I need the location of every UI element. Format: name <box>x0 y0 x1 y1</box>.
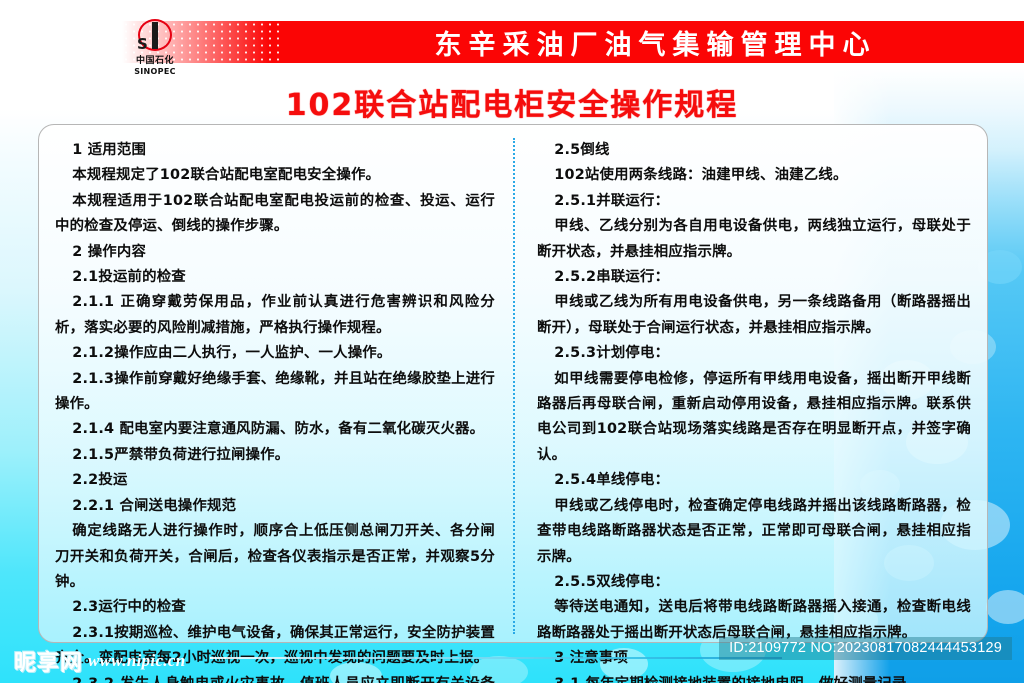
paragraph-sec-2-5-5: 2.5.5双线停电： <box>537 570 971 595</box>
paragraph-p-1-1: 本规程规定了102联合站配电室配电安全操作。 <box>55 163 495 188</box>
paragraph-sec-2-5-3: 2.5.3计划停电： <box>537 341 971 366</box>
paragraph-sec-2: 2 操作内容 <box>55 240 495 265</box>
paragraph-sec-2-5: 2.5倒线 <box>537 138 971 163</box>
right-text-column: 2.5倒线102站使用两条线路：油建甲线、油建乙线。2.5.1并联运行：甲线、乙… <box>513 138 971 634</box>
paragraph-p-1-2: 本规程适用于102联合站配电室配电投运前的检查、投运、运行中的检查及停运、倒线的… <box>55 189 495 240</box>
watermark-brand-cn: 昵享网 <box>14 645 83 677</box>
paragraph-sec-2-2: 2.2投运 <box>55 468 495 493</box>
left-text-column: 1 适用范围本规程规定了102联合站配电室配电安全操作。本规程适用于102联合站… <box>55 138 513 634</box>
logo-letter: S <box>137 35 173 53</box>
paragraph-sec-2-3: 2.3运行中的检查 <box>55 595 495 620</box>
paragraph-sec-2-5-2: 2.5.2串联运行： <box>537 265 971 290</box>
watermark-url: www.nipic.cn <box>88 651 185 671</box>
paragraph-p-2-2-1: 2.2.1 合闸送电操作规范 <box>55 494 495 519</box>
paragraph-p-2-2-1b: 确定线路无人进行操作时，顺序合上低压侧总闸刀开关、各分闸刀开关和负荷开关，合闸后… <box>55 519 495 595</box>
header-banner: 东辛采油厂油气集输管理中心 <box>122 21 1024 63</box>
watermark: 昵享网 www.nipic.cn <box>14 645 185 677</box>
poster-canvas: 东辛采油厂油气集输管理中心 S 中国石化 SINOPEC 102联合站配电柜安全… <box>0 0 1024 683</box>
organization-title: 东辛采油厂油气集输管理中心 <box>290 21 1014 63</box>
paragraph-p-2-1-2: 2.1.2操作应由二人执行，一人监护、一人操作。 <box>55 341 495 366</box>
sinopec-logo: S 中国石化 SINOPEC <box>124 19 186 79</box>
paragraph-p-2-1-4: 2.1.4 配电室内要注意通风防漏、防水，备有二氧化碳灭火器。 <box>55 417 495 442</box>
paragraph-sec-2-5-4: 2.5.4单线停电： <box>537 468 971 493</box>
paragraph-sec-2-5-1: 2.5.1并联运行： <box>537 189 971 214</box>
paragraph-p-2-5-3: 如甲线需要停电检修，停运所有甲线用电设备，摇出断开甲线断路器后再母联合闸，重新启… <box>537 367 971 469</box>
image-id-badge: ID:2109772 NO:20230817082444453129 <box>719 637 1012 660</box>
sinopec-mark-icon: S <box>135 19 175 55</box>
watermark-rule <box>210 657 782 659</box>
logo-name-en: SINOPEC <box>134 67 176 77</box>
logo-name-cn: 中国石化 <box>136 56 174 67</box>
paragraph-p-2-5-4: 甲线或乙线停电时，检查确定停电线路并摇出该线路断路器，检查带电线路断路器状态是否… <box>537 494 971 570</box>
paragraph-p-2-1-1: 2.1.1 正确穿戴劳保用品，作业前认真进行危害辨识和风险分析，落实必要的风险削… <box>55 290 495 341</box>
paragraph-sec-1: 1 适用范围 <box>55 138 495 163</box>
content-panel: 1 适用范围本规程规定了102联合站配电室配电安全操作。本规程适用于102联合站… <box>38 124 988 643</box>
paragraph-p-3-1: 3.1 每年定期检测接地装置的接地电阻，做好测量记录。 <box>537 672 971 683</box>
paragraph-p-2-5-2: 甲线或乙线为所有用电设备供电，另一条线路备用（断路器摇出断开），母联处于合闸运行… <box>537 290 971 341</box>
paragraph-p-2-1-5: 2.1.5严禁带负荷进行拉闸操作。 <box>55 443 495 468</box>
page-title: 102联合站配电柜安全操作规程 <box>0 80 1024 124</box>
paragraph-p-2-5-1: 甲线、乙线分别为各自用电设备供电，两线独立运行，母联处于断开状态，并悬挂相应指示… <box>537 214 971 265</box>
paragraph-p-2-5-0: 102站使用两条线路：油建甲线、油建乙线。 <box>537 163 971 188</box>
paragraph-sec-2-1: 2.1投运前的检查 <box>55 265 495 290</box>
paragraph-p-2-1-3: 2.1.3操作前穿戴好绝缘手套、绝缘靴，并且站在绝缘胶垫上进行操作。 <box>55 367 495 418</box>
